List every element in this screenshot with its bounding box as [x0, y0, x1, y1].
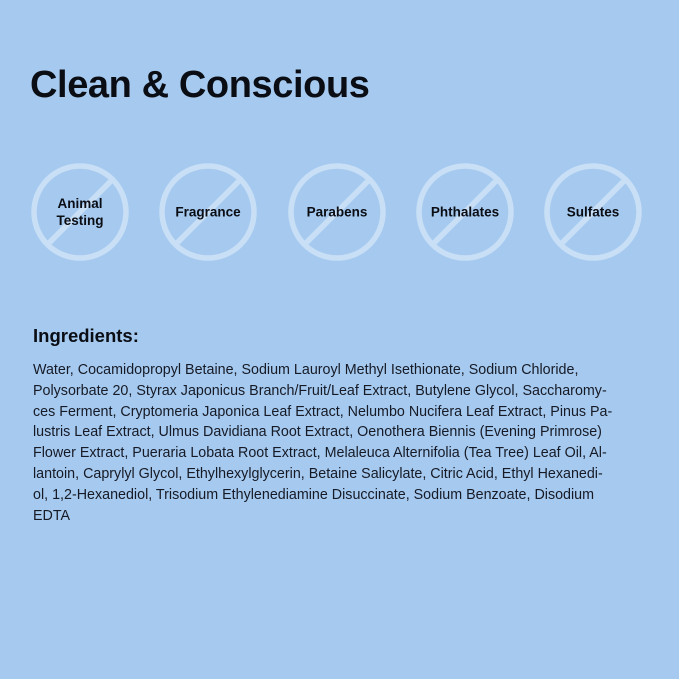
product-info-panel: Clean & Conscious Animal TestingFragranc…: [0, 0, 679, 679]
free-from-badge: Parabens: [287, 162, 387, 262]
badge-label: Animal Testing: [40, 195, 120, 229]
free-from-badge: Sulfates: [543, 162, 643, 262]
free-from-badge: Fragrance: [158, 162, 258, 262]
ingredients-line: Polysorbate 20, Styrax Japonicus Branch/…: [33, 381, 661, 402]
ingredients-line: ces Ferment, Cryptomeria Japonica Leaf E…: [33, 402, 661, 423]
ingredients-line: Water, Cocamidopropyl Betaine, Sodium La…: [33, 360, 661, 381]
ingredients-line: ol, 1,2-Hexanediol, Trisodium Ethylenedi…: [33, 485, 661, 506]
free-from-badge-row: Animal TestingFragranceParabensPhthalate…: [16, 162, 672, 262]
badge-label: Sulfates: [567, 204, 620, 221]
badge-label: Phthalates: [431, 204, 499, 221]
free-from-badge: Phthalates: [415, 162, 515, 262]
ingredients-heading: Ingredients:: [33, 324, 139, 348]
badge-label: Fragrance: [175, 204, 240, 221]
badge-label: Parabens: [307, 204, 368, 221]
ingredients-list: Water, Cocamidopropyl Betaine, Sodium La…: [33, 360, 661, 526]
ingredients-line: lustris Leaf Extract, Ulmus Davidiana Ro…: [33, 422, 661, 443]
ingredients-line: Flower Extract, Pueraria Lobata Root Ext…: [33, 443, 661, 464]
ingredients-line: lantoin, Caprylyl Glycol, Ethylhexylglyc…: [33, 464, 661, 485]
free-from-badge: Animal Testing: [30, 162, 130, 262]
page-title: Clean & Conscious: [30, 62, 370, 108]
ingredients-line: EDTA: [33, 506, 661, 527]
